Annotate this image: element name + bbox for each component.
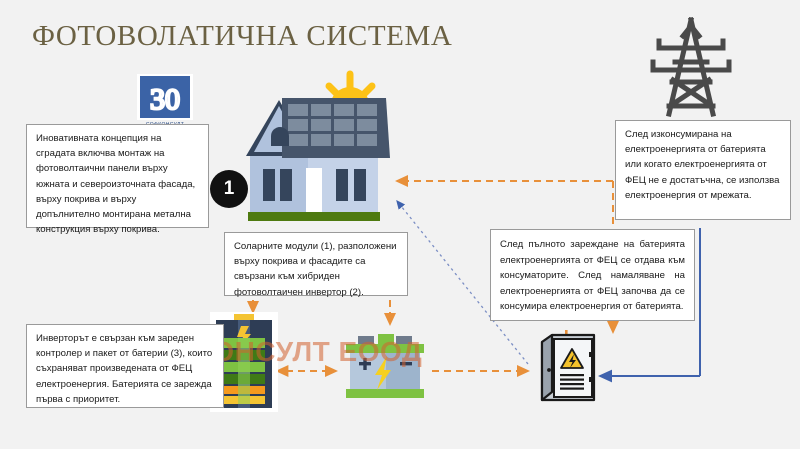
slide-canvas: ФОТОВОЛАТИЧНА СИСТЕМА [0, 0, 800, 449]
svg-text:30: 30 [150, 83, 180, 116]
textbox-concept: Иновативната концепция на сградата включ… [26, 124, 209, 228]
electrical-cabinet-icon [538, 330, 598, 406]
car-battery-icon [340, 334, 430, 406]
house-with-solar-panels-icon [238, 66, 390, 232]
badge-number-one: 1 [210, 170, 248, 208]
textbox-battery-consumption: След пълното зареждане на батерията елек… [490, 229, 695, 321]
textbox-grid-supply: След изконсумирана на електроенергията о… [615, 120, 791, 220]
power-transmission-tower-icon [645, 14, 737, 120]
textbox-solar-modules: Соларните модули (1), разположени върху … [224, 232, 408, 296]
textbox-inverter-batteries: Инверторът е свързан към зареден контрол… [26, 324, 224, 408]
